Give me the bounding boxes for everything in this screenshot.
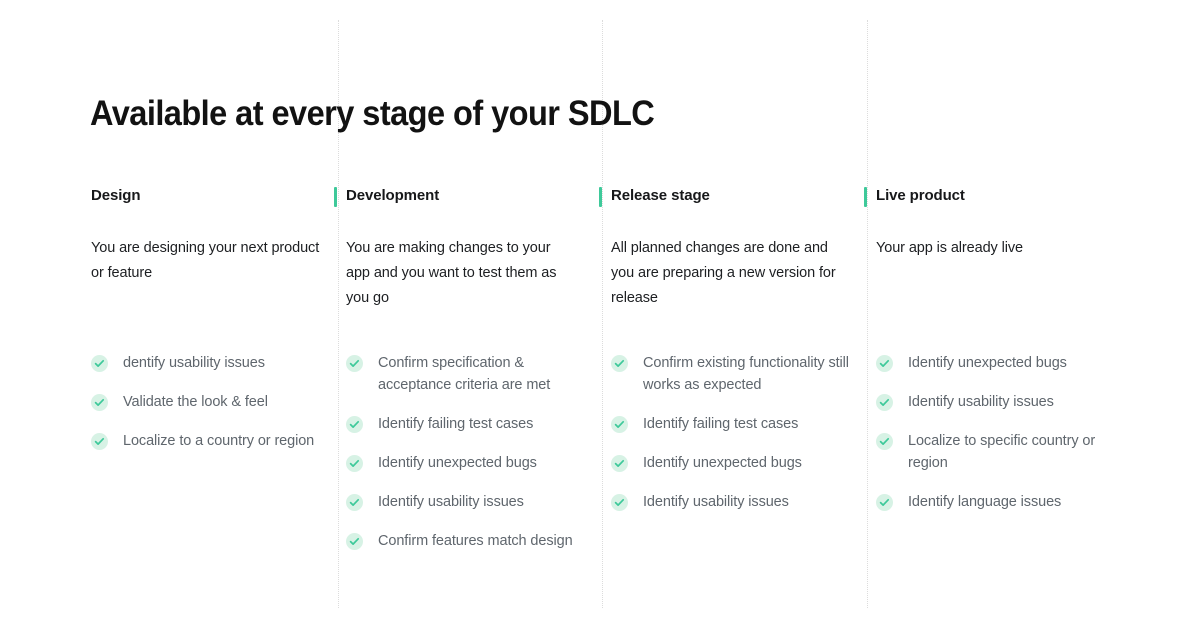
list-item-label: Identify unexpected bugs (643, 455, 802, 471)
list-item: dentify usability issues (91, 352, 337, 374)
check-circle-icon (611, 455, 628, 472)
check-circle-icon (346, 494, 363, 511)
list-item-label: Localize to a country or region (123, 433, 314, 449)
stage-checklist: Identify unexpected bugs Identify usabil… (876, 352, 1122, 513)
check-circle-icon (611, 355, 628, 372)
stage-title: Design (91, 187, 140, 204)
stage-header: Live product (876, 186, 1122, 210)
list-item: Identify usability issues (611, 491, 857, 513)
stage-description: Your app is already live (876, 236, 1108, 261)
check-circle-icon (91, 394, 108, 411)
list-item-label: Confirm features match design (378, 533, 573, 549)
check-circle-icon (876, 394, 893, 411)
list-item: Identify failing test cases (611, 413, 857, 435)
check-circle-icon (876, 494, 893, 511)
check-circle-icon (346, 533, 363, 550)
list-item: Identify language issues (876, 491, 1122, 513)
list-item-label: Confirm specification & acceptance crite… (378, 355, 550, 393)
list-item: Identify usability issues (876, 391, 1122, 413)
accent-bar (864, 187, 867, 207)
list-item: Localize to specific country or region (876, 430, 1122, 474)
stage-header: Design (91, 186, 337, 210)
list-item-label: Localize to specific country or region (908, 433, 1095, 471)
check-circle-icon (346, 416, 363, 433)
list-item-label: Confirm existing functionality still wor… (643, 355, 849, 393)
stage-title: Release stage (611, 187, 710, 204)
list-item: Validate the look & feel (91, 391, 337, 413)
stage-checklist: dentify usability issues Validate the lo… (91, 352, 337, 452)
list-item-label: Identify failing test cases (643, 416, 798, 432)
stage-column-release: Release stage All planned changes are do… (611, 186, 857, 326)
stage-checklist: Confirm specification & acceptance crite… (346, 352, 592, 552)
list-item-label: Identify language issues (908, 494, 1061, 510)
check-circle-icon (346, 455, 363, 472)
list-item: Localize to a country or region (91, 430, 337, 452)
stage-description: You are making changes to your app and y… (346, 236, 578, 311)
stage-column-live-product: Live product Your app is already live Id… (876, 186, 1122, 276)
check-circle-icon (346, 355, 363, 372)
list-item: Identify failing test cases (346, 413, 592, 435)
stage-column-development: Development You are making changes to yo… (346, 186, 592, 326)
check-circle-icon (611, 494, 628, 511)
column-divider-3 (867, 20, 869, 608)
list-item: Confirm existing functionality still wor… (611, 352, 857, 396)
list-item-label: Identify failing test cases (378, 416, 533, 432)
accent-bar (599, 187, 602, 207)
check-circle-icon (876, 433, 893, 450)
check-circle-icon (91, 355, 108, 372)
list-item-label: Identify usability issues (643, 494, 789, 510)
list-item: Identify usability issues (346, 491, 592, 513)
list-item-label: dentify usability issues (123, 355, 265, 371)
list-item-label: Identify unexpected bugs (378, 455, 537, 471)
stage-title: Development (346, 187, 439, 204)
list-item-label: Validate the look & feel (123, 394, 268, 410)
list-item-label: Identify usability issues (908, 394, 1054, 410)
stage-header: Release stage (611, 186, 857, 210)
check-circle-icon (91, 433, 108, 450)
list-item: Identify unexpected bugs (611, 452, 857, 474)
list-item: Identify unexpected bugs (876, 352, 1122, 374)
stage-column-design: Design You are designing your next produ… (91, 186, 337, 301)
stage-title: Live product (876, 187, 965, 204)
page-title: Available at every stage of your SDLC (90, 93, 654, 134)
list-item: Identify unexpected bugs (346, 452, 592, 474)
stage-description: You are designing your next product or f… (91, 236, 323, 286)
stage-checklist: Confirm existing functionality still wor… (611, 352, 857, 513)
check-circle-icon (611, 416, 628, 433)
stage-description: All planned changes are done and you are… (611, 236, 843, 311)
accent-bar (334, 187, 337, 207)
check-circle-icon (876, 355, 893, 372)
list-item: Confirm specification & acceptance crite… (346, 352, 592, 396)
sdlc-stages-infographic: Available at every stage of your SDLC De… (0, 0, 1200, 630)
list-item-label: Identify usability issues (378, 494, 524, 510)
stage-header: Development (346, 186, 592, 210)
list-item-label: Identify unexpected bugs (908, 355, 1067, 371)
list-item: Confirm features match design (346, 530, 592, 552)
